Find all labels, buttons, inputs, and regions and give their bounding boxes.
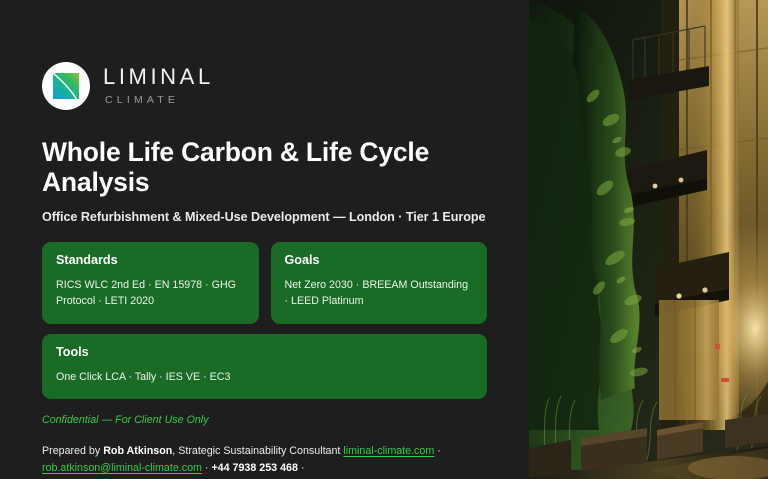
- brand-logo[interactable]: LIMINAL CLIMATE: [42, 62, 487, 110]
- author-name: Rob Atkinson: [103, 445, 172, 457]
- confidentiality-notice: Confidential — For Client Use Only: [42, 414, 487, 426]
- separator: ·: [202, 462, 212, 474]
- prepared-prefix: Prepared by: [42, 445, 103, 457]
- info-card-row-bottom: Tools One Click LCA · Tally · IES VE · E…: [42, 334, 487, 399]
- info-card-goals[interactable]: Goals Net Zero 2030 · BREEAM Outstanding…: [271, 242, 488, 323]
- separator: ·: [298, 462, 305, 474]
- card-body: RICS WLC 2nd Ed · EN 15978 · GHG Protoco…: [56, 277, 245, 310]
- cover-photo: [529, 0, 768, 479]
- author-role: , Strategic Sustainability Consultant: [172, 445, 343, 457]
- card-body: One Click LCA · Tally · IES VE · EC3: [56, 369, 473, 385]
- liminal-leaf-mark-icon: [42, 62, 90, 110]
- content-panel: LIMINAL CLIMATE Whole Life Carbon & Life…: [0, 0, 529, 479]
- card-title: Tools: [56, 346, 473, 360]
- info-card-row-top: Standards RICS WLC 2nd Ed · EN 15978 · G…: [42, 242, 487, 323]
- cover-page: LIMINAL CLIMATE Whole Life Carbon & Life…: [0, 0, 768, 479]
- brand-wordmark: LIMINAL CLIMATE: [103, 66, 214, 106]
- info-card-standards[interactable]: Standards RICS WLC 2nd Ed · EN 15978 · G…: [42, 242, 259, 323]
- email-link[interactable]: rob.atkinson@liminal-climate.com: [42, 462, 202, 474]
- brand-subname: CLIMATE: [105, 95, 214, 106]
- website-link[interactable]: liminal-climate.com: [343, 445, 434, 457]
- prepared-by-line: Prepared by Rob Atkinson, Strategic Sust…: [42, 443, 487, 478]
- brand-name: LIMINAL: [103, 66, 214, 88]
- page-subtitle: Office Refurbishment & Mixed-Use Develop…: [42, 210, 487, 224]
- card-title: Standards: [56, 254, 245, 268]
- card-body: Net Zero 2030 · BREEAM Outstanding · LEE…: [285, 277, 474, 310]
- info-card-tools[interactable]: Tools One Click LCA · Tally · IES VE · E…: [42, 334, 487, 399]
- card-title: Goals: [285, 254, 474, 268]
- phone-number: +44 7938 253 468: [211, 462, 297, 474]
- page-title: Whole Life Carbon & Life Cycle Analysis: [42, 138, 487, 197]
- separator: ·: [434, 445, 441, 457]
